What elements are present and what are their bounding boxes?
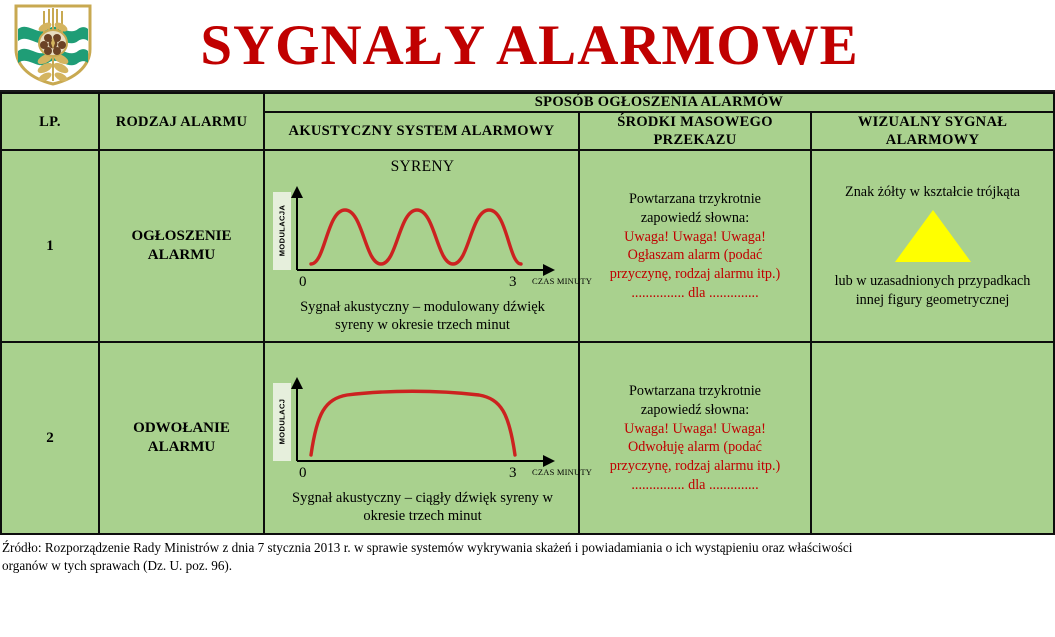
media-red-line4: ............... dla .............. (580, 284, 810, 303)
table-row: 2 ODWOŁANIE ALARMU (1, 342, 1054, 534)
visual-bottom-line2: innej figury geometrycznej (812, 291, 1053, 310)
source-note: Źródło: Rozporządzenie Rady Ministrów z … (0, 535, 1055, 575)
sirens-label: SYRENY (267, 158, 578, 176)
column-header-wizualny: WIZUALNY SYGNAŁ ALARMOWY (811, 112, 1054, 150)
alarm-type: OGŁOSZENIE ALARMU (99, 150, 264, 342)
modulated-signal-chart: MODULACJA 0 3 CZAS MINUTY (267, 182, 559, 294)
acoustic-signal-cell: MODULACJ 0 3 CZAS MINUTY Sygnał akustycz… (264, 342, 579, 534)
acoustic-caption-line1: Sygnał akustyczny – modulowany dźwięk (267, 298, 578, 317)
media-red-line2: Ogłaszam alarm (podać (580, 246, 810, 265)
alarm-signals-table: LP. RODZAJ ALARMU SPOSÓB OGŁOSZENIA ALAR… (0, 92, 1055, 535)
acoustic-caption-line2: okresie trzech minut (267, 507, 578, 526)
media-red-line2: Odwołuję alarm (podać (580, 438, 810, 457)
y-axis-label: MODULACJ (273, 383, 291, 461)
visual-bottom-line1: lub w uzasadnionych przypadkach (812, 272, 1053, 291)
media-red-line3: przyczynę, rodzaj alarmu itp.) (580, 457, 810, 476)
header-row-top: LP. RODZAJ ALARMU SPOSÓB OGŁOSZENIA ALAR… (1, 93, 1054, 112)
table-body: 1 OGŁOSZENIE ALARMU SYRENY (1, 150, 1054, 534)
row-number: 2 (1, 342, 99, 534)
alarm-type-line1: ODWOŁANIE (100, 419, 263, 439)
media-black-line1: Powtarzana trzykrotnie (580, 190, 810, 209)
acoustic-caption: Sygnał akustyczny – ciągły dźwięk syreny… (267, 489, 578, 526)
continuous-signal-chart: MODULACJ 0 3 CZAS MINUTY (267, 373, 559, 485)
acoustic-caption: Sygnał akustyczny – modulowany dźwięk sy… (267, 298, 578, 335)
x-axis-tick-start: 0 (299, 465, 307, 482)
visual-signal-cell (811, 342, 1054, 534)
mass-media-cell: Powtarzana trzykrotnie zapowiedź słowna:… (579, 342, 811, 534)
visual-top-text: Znak żółty w kształcie trójkąta (812, 183, 1053, 202)
media-red-line1: Uwaga! Uwaga! Uwaga! (580, 228, 810, 247)
visual-signal-cell: Znak żółty w kształcie trójkąta lub w uz… (811, 150, 1054, 342)
alarm-type-line2: ALARMU (100, 438, 263, 458)
alarm-type: ODWOŁANIE ALARMU (99, 342, 264, 534)
column-header-srodki: ŚRODKI MASOWEGO PRZEKAZU (579, 112, 811, 150)
column-header-akustyczny: AKUSTYCZNY SYSTEM ALARMOWY (264, 112, 579, 150)
x-axis-tick-end: 3 (509, 465, 517, 482)
mass-media-cell: Powtarzana trzykrotnie zapowiedź słowna:… (579, 150, 811, 342)
source-note-line2: organów w tych sprawach (Dz. U. poz. 96)… (2, 557, 1051, 575)
acoustic-caption-line2: syreny w okresie trzech minut (267, 316, 578, 335)
x-axis-unit-label: CZAS MINUTY (532, 276, 592, 286)
source-note-line1: Źródło: Rozporządzenie Rady Ministrów z … (2, 539, 1051, 557)
y-axis-label: MODULACJA (273, 192, 291, 270)
x-axis-tick-start: 0 (299, 274, 307, 291)
page-title: SYGNAŁY ALARMOWE (94, 17, 1055, 74)
media-red-line4: ............... dla .............. (580, 476, 810, 495)
media-black-line1: Powtarzana trzykrotnie (580, 382, 810, 401)
alarm-signals-poster: SYGNAŁY ALARMOWE LP. RODZAJ ALARMU SPOSÓ… (0, 0, 1055, 637)
acoustic-caption-line1: Sygnał akustyczny – ciągły dźwięk syreny… (267, 489, 578, 508)
media-red-line1: Uwaga! Uwaga! Uwaga! (580, 420, 810, 439)
alarm-type-line2: ALARMU (100, 246, 263, 266)
acoustic-signal-cell: SYRENY MODULACJA 0 3 (264, 150, 579, 342)
column-header-rodzaj: RODZAJ ALARMU (99, 93, 264, 150)
table-row: 1 OGŁOSZENIE ALARMU SYRENY (1, 150, 1054, 342)
x-axis-tick-end: 3 (509, 274, 517, 291)
alarm-type-line1: OGŁOSZENIE (100, 227, 263, 247)
x-axis-unit-label: CZAS MINUTY (532, 467, 592, 477)
column-header-group-sposob: SPOSÓB OGŁOSZENIA ALARMÓW (264, 93, 1054, 112)
table-header: LP. RODZAJ ALARMU SPOSÓB OGŁOSZENIA ALAR… (1, 93, 1054, 150)
poster-header: SYGNAŁY ALARMOWE (0, 0, 1055, 92)
media-black-line2: zapowiedź słowna: (580, 401, 810, 420)
coat-of-arms-icon (12, 3, 94, 87)
media-red-line3: przyczynę, rodzaj alarmu itp.) (580, 265, 810, 284)
column-header-lp: LP. (1, 93, 99, 150)
row-number: 1 (1, 150, 99, 342)
yellow-triangle-icon (895, 210, 971, 262)
media-black-line2: zapowiedź słowna: (580, 209, 810, 228)
